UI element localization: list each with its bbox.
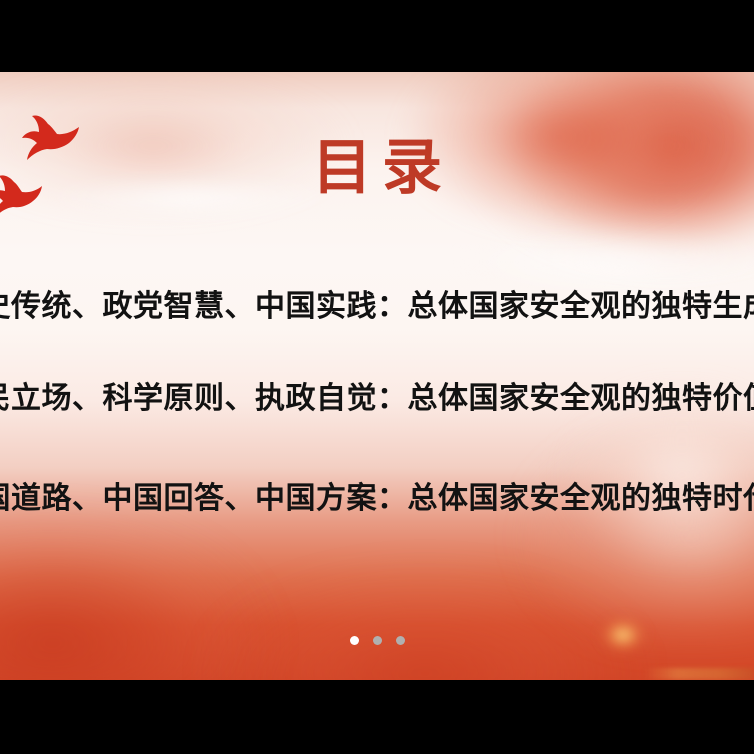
contents-item[interactable]: 国道路、中国回答、中国方案：总体国家安全观的独特时代 — [0, 449, 754, 541]
pagination-dots[interactable] — [0, 636, 754, 645]
skyline-strip — [644, 668, 754, 680]
letterbox-top — [0, 0, 754, 72]
lamp-glow — [588, 606, 658, 664]
slide-viewer[interactable]: 目录 史传统、政党智慧、中国实践：总体国家安全观的独特生成 民立场、科学原则、执… — [0, 0, 754, 754]
contents-item[interactable]: 史传统、政党智慧、中国实践：总体国家安全观的独特生成 — [0, 257, 754, 349]
contents-list: 史传统、政党智慧、中国实践：总体国家安全观的独特生成 民立场、科学原则、执政自觉… — [0, 257, 754, 541]
contents-item-label: 国道路、中国回答、中国方案：总体国家安全观的独特时代 — [0, 473, 754, 517]
slide-frame: 目录 史传统、政党智慧、中国实践：总体国家安全观的独特生成 民立场、科学原则、执… — [0, 72, 754, 680]
contents-item[interactable]: 民立场、科学原则、执政自觉：总体国家安全观的独特价值 — [0, 349, 754, 441]
contents-item-label: 史传统、政党智慧、中国实践：总体国家安全观的独特生成 — [0, 281, 754, 325]
page-title: 目录 — [0, 138, 754, 198]
pagination-dot-3[interactable] — [396, 636, 405, 645]
pagination-dot-1[interactable] — [350, 636, 359, 645]
contents-item-label: 民立场、科学原则、执政自觉：总体国家安全观的独特价值 — [0, 373, 754, 417]
pagination-dot-2[interactable] — [373, 636, 382, 645]
letterbox-bottom — [0, 680, 754, 754]
